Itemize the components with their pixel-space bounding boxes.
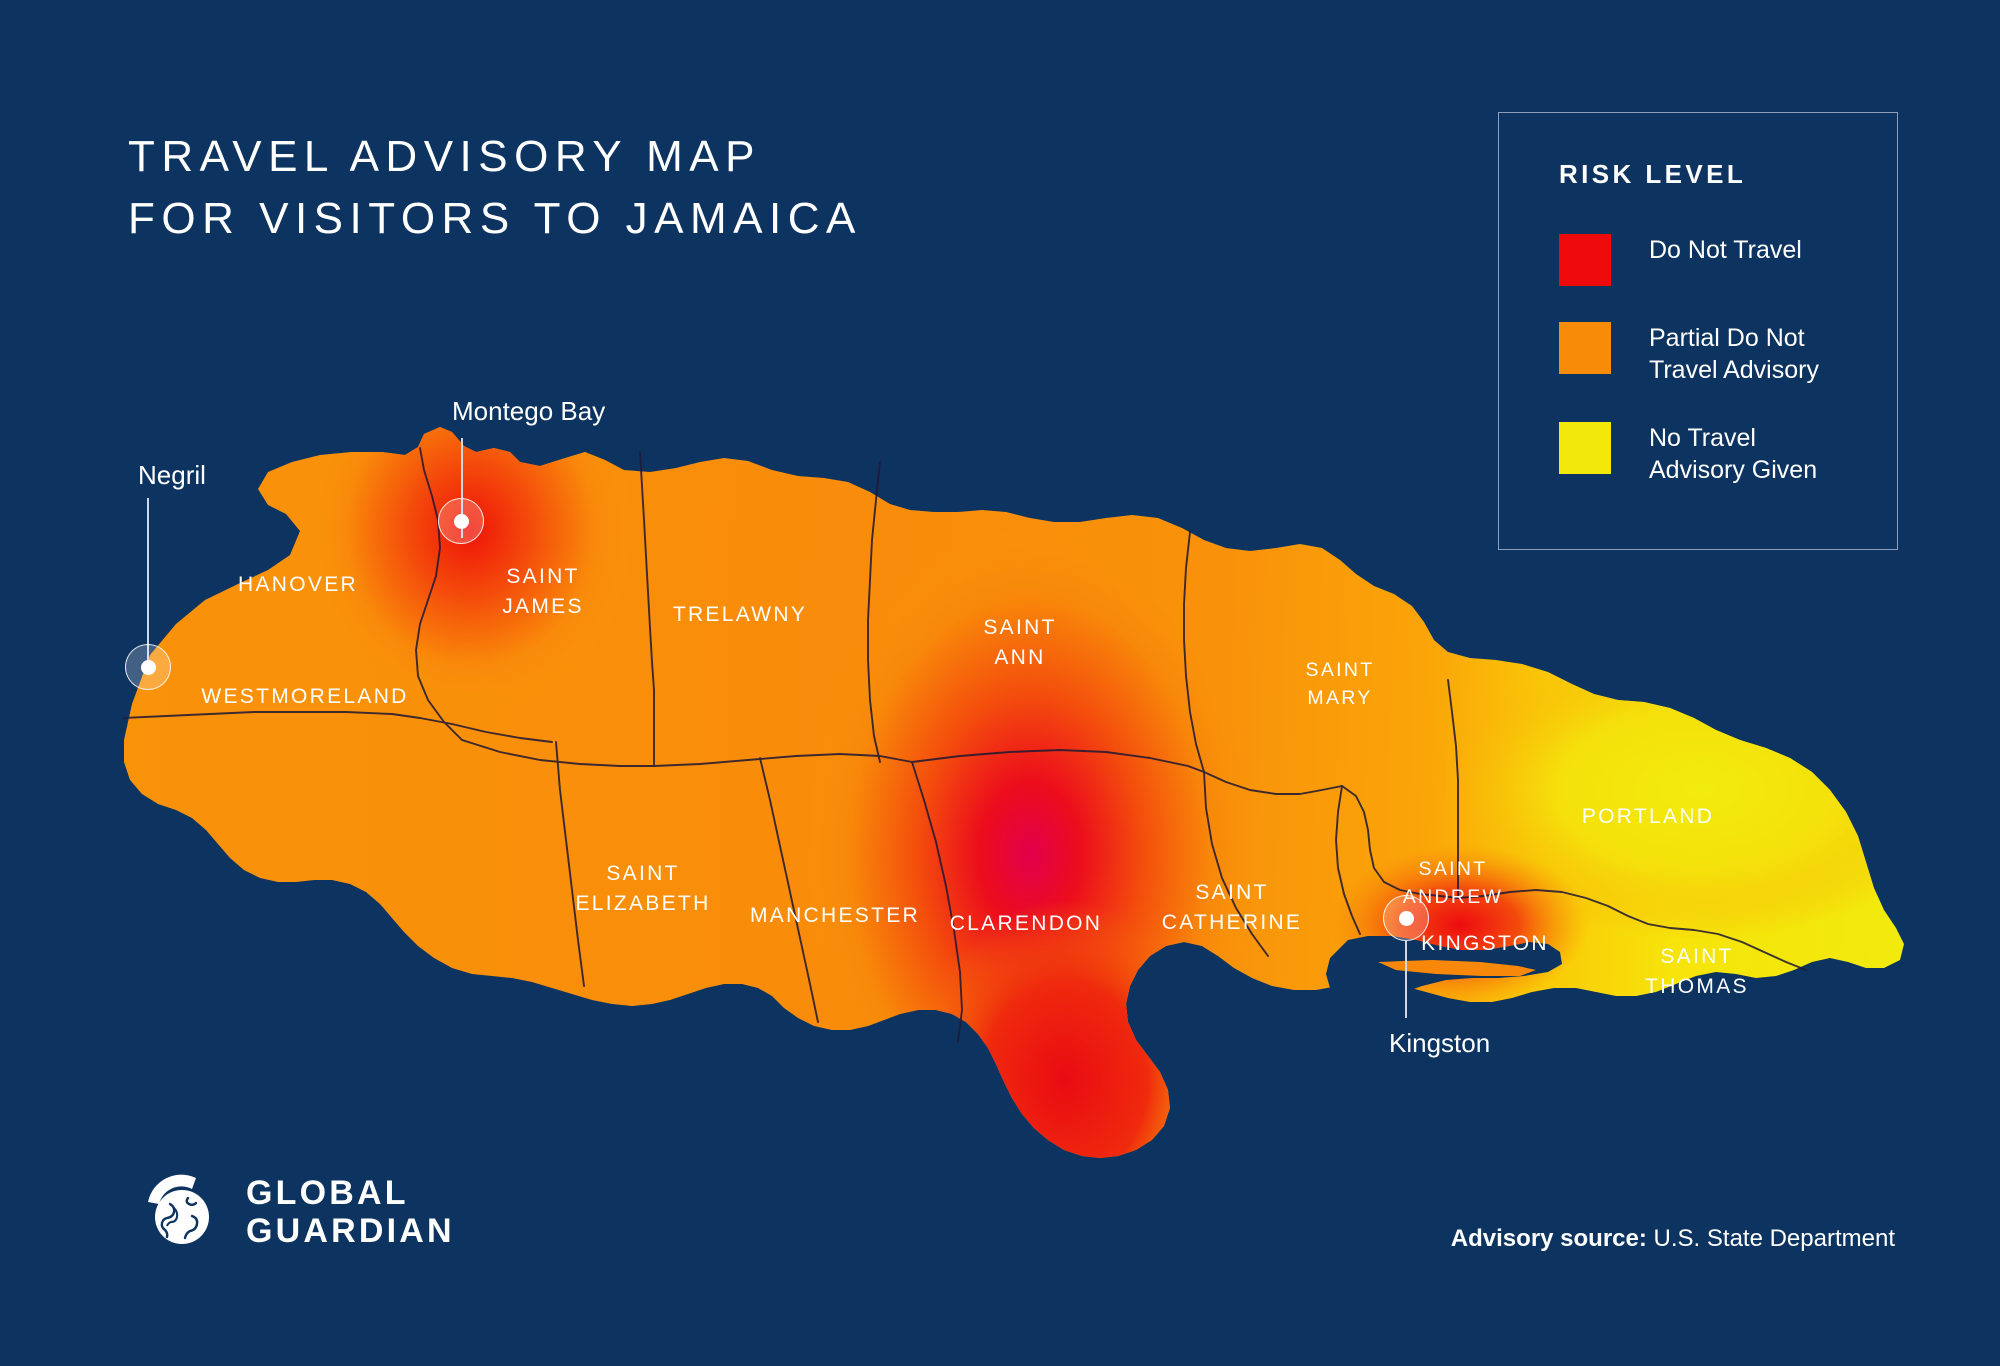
logo-line-2: GUARDIAN	[246, 1212, 455, 1250]
parish-label-hanover: HANOVER	[238, 573, 358, 596]
parish-label-saint-thomas-2: THOMAS	[1645, 975, 1749, 998]
parish-label-saint-james-1: SAINT	[506, 565, 579, 588]
city-label-kingston: Kingston	[1389, 1028, 1490, 1059]
city-marker-negril[interactable]	[125, 644, 171, 690]
parish-label-westmoreland: WESTMORELAND	[201, 685, 408, 708]
logo-wordmark: GLOBAL GUARDIAN	[246, 1174, 455, 1251]
advisory-source-value: U.S. State Department	[1654, 1225, 1895, 1252]
city-label-montego-bay: Montego Bay	[452, 396, 605, 427]
legend-item-no-advisory: No Travel Advisory Given	[1559, 420, 1897, 486]
legend-heading: RISK LEVEL	[1559, 159, 1897, 190]
parish-label-saint-mary-2: MARY	[1307, 687, 1372, 709]
parish-label-saint-james-2: JAMES	[502, 595, 584, 618]
parish-label-saint-catherine-2: CATHERINE	[1162, 911, 1303, 934]
city-marker-kingston[interactable]	[1383, 895, 1429, 941]
legend-label-no-advisory: No Travel Advisory Given	[1649, 420, 1817, 486]
parish-label-clarendon: CLARENDON	[950, 912, 1103, 935]
legend-label-do-not-travel: Do Not Travel	[1649, 232, 1802, 267]
parish-label-portland: PORTLAND	[1582, 805, 1714, 828]
legend-item-partial-advisory: Partial Do Not Travel Advisory	[1559, 320, 1897, 386]
parish-label-saint-thomas-1: SAINT	[1660, 945, 1733, 968]
parish-label-saint-ann-2: ANN	[994, 646, 1045, 669]
parish-label-saint-catherine-1: SAINT	[1195, 881, 1268, 904]
parish-label-saint-elizabeth-1: SAINT	[606, 862, 679, 885]
advisory-source: Advisory source: U.S. State Department	[1451, 1225, 1895, 1253]
logo-line-1: GLOBAL	[246, 1174, 455, 1212]
parish-label-manchester: MANCHESTER	[750, 904, 920, 927]
legend-item-do-not-travel: Do Not Travel	[1559, 232, 1897, 286]
parish-label-saint-ann-1: SAINT	[983, 616, 1056, 639]
parish-label-saint-mary-1: SAINT	[1306, 659, 1375, 681]
legend-panel: RISK LEVEL Do Not Travel Partial Do Not …	[1498, 112, 1898, 550]
legend-swatch-red	[1559, 234, 1611, 286]
city-leader-kingston	[1405, 940, 1407, 1018]
advisory-source-label: Advisory source:	[1451, 1225, 1647, 1252]
parish-label-trelawny: TRELAWNY	[673, 603, 807, 626]
legend-swatch-yellow	[1559, 422, 1611, 474]
global-guardian-logo: GLOBAL GUARDIAN	[140, 1172, 455, 1252]
parish-label-kingston: KINGSTON	[1421, 932, 1549, 955]
legend-swatch-orange	[1559, 322, 1611, 374]
parish-label-saint-elizabeth-2: ELIZABETH	[575, 892, 710, 915]
globe-icon	[140, 1172, 220, 1252]
city-label-negril: Negril	[138, 460, 206, 491]
legend-label-partial-advisory: Partial Do Not Travel Advisory	[1649, 320, 1819, 386]
city-marker-montego-bay[interactable]	[438, 498, 484, 544]
parish-label-saint-andrew-1: SAINT	[1419, 858, 1488, 880]
